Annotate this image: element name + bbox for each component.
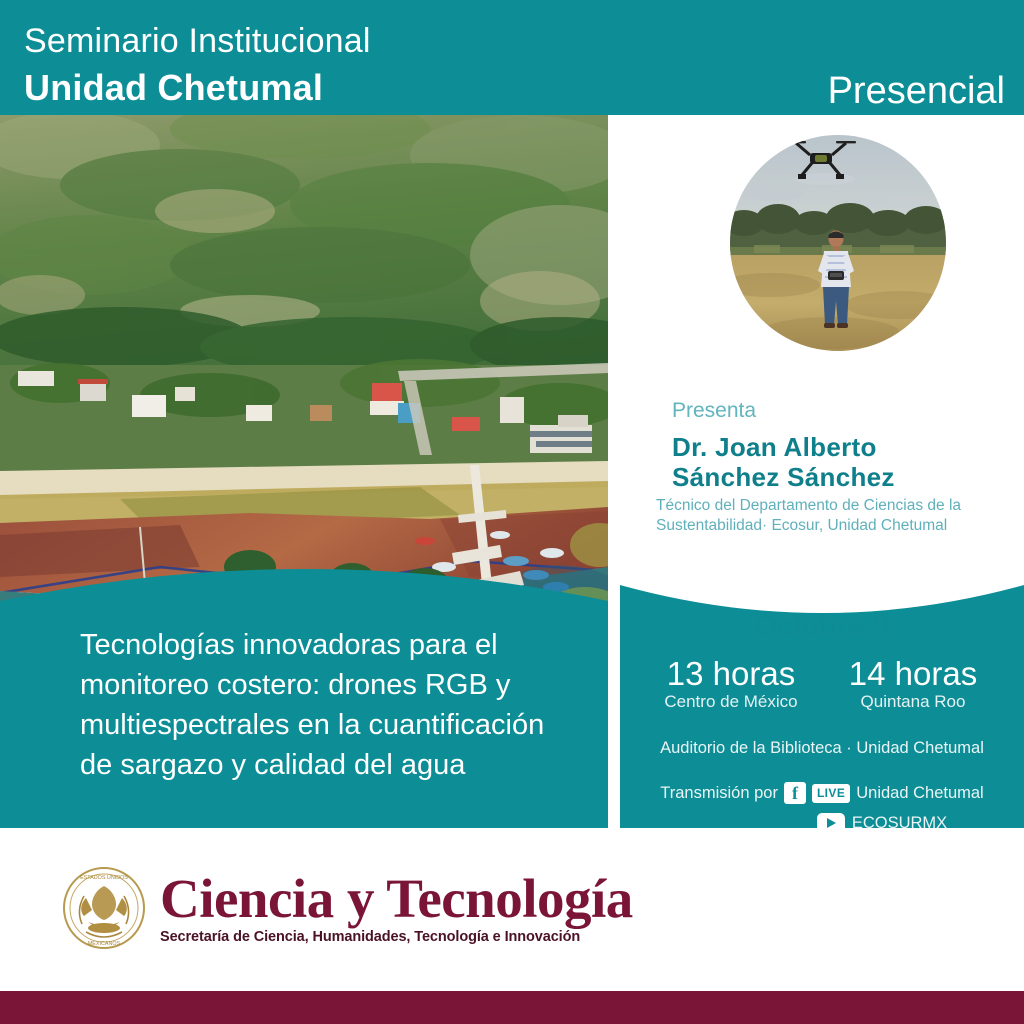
youtube-icon[interactable]: [817, 813, 845, 833]
poster-footer: ESTADOS UNIDOS MEXICANOS Ciencia y Tecno…: [0, 840, 1024, 991]
affiliation-line2: Sustentabilidad· Ecosur, Unidad Chetumal: [656, 516, 1016, 536]
stream-label: Transmisión por: [660, 784, 778, 803]
talk-title-block: Tecnologías innovadoras para el monitore…: [0, 555, 608, 828]
play-triangle-icon: [827, 818, 836, 828]
facebook-glyph: f: [792, 783, 798, 803]
gobierno-title: Ciencia y Tecnología: [160, 870, 633, 928]
facebook-stream-line: Transmisión por f LIVE Unidad Chetumal: [620, 782, 1024, 804]
speaker-name-line2: Sánchez Sánchez: [672, 462, 1022, 492]
affiliation-line1: Técnico del Departamento de Ciencias de …: [656, 496, 1016, 516]
header-subtitle: Seminario Institucional: [24, 24, 371, 58]
speaker-panel: Presenta Dr. Joan Alberto Sánchez Sánche…: [620, 115, 1024, 828]
event-times: 13 horas Centro de México 14 horas Quint…: [620, 657, 1024, 713]
speaker-affiliation: Técnico del Departamento de Ciencias de …: [656, 496, 1016, 536]
youtube-channel: ECOSURMX: [852, 814, 947, 833]
mexico-seal-icon: ESTADOS UNIDOS MEXICANOS: [62, 866, 146, 950]
youtube-stream-line: ECOSURMX: [620, 813, 1024, 833]
modality-label: Presencial: [828, 72, 1005, 110]
bottom-accent-bar: [0, 991, 1024, 1024]
time-zone: Centro de México: [651, 691, 811, 713]
speaker-name: Dr. Joan Alberto Sánchez Sánchez: [672, 432, 1022, 492]
presenta-label: Presenta: [672, 400, 756, 421]
time-entry: 13 horas Centro de México: [651, 657, 811, 713]
svg-text:ESTADOS UNIDOS: ESTADOS UNIDOS: [80, 875, 128, 881]
gobierno-subtitle: Secretaría de Ciencia, Humanidades, Tecn…: [160, 928, 633, 946]
svg-text:MEXICANOS: MEXICANOS: [88, 941, 121, 947]
time-entry: 14 horas Quintana Roo: [833, 657, 993, 713]
time-value: 13 horas: [651, 657, 811, 691]
facebook-channel: Unidad Chetumal: [856, 784, 984, 803]
speaker-name-line1: Dr. Joan Alberto: [672, 432, 1022, 462]
facebook-icon[interactable]: f: [784, 782, 806, 804]
gobierno-logo: ESTADOS UNIDOS MEXICANOS Ciencia y Tecno…: [62, 866, 633, 950]
speaker-photo: [730, 135, 946, 351]
event-venue: Auditorio de la Biblioteca · Unidad Chet…: [620, 740, 1024, 757]
header-title: Unidad Chetumal: [24, 70, 323, 106]
live-badge: LIVE: [812, 784, 850, 803]
time-value: 14 horas: [833, 657, 993, 691]
event-date: Octubre 9: [620, 610, 1024, 641]
seminar-poster: Seminario Institucional Unidad Chetumal …: [0, 0, 1024, 1024]
talk-title: Tecnologías innovadoras para el monitore…: [80, 625, 580, 785]
time-zone: Quintana Roo: [833, 691, 993, 713]
gobierno-text: Ciencia y Tecnología Secretaría de Cienc…: [160, 870, 633, 946]
poster-header: Seminario Institucional Unidad Chetumal …: [0, 0, 1024, 115]
